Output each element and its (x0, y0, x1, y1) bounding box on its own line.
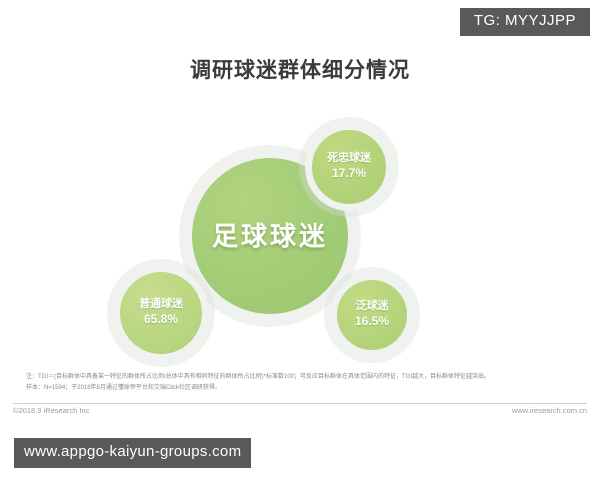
watermark-strip: www.appgo-kaiyun-groups.com (0, 432, 600, 480)
bubble-label: 泛球迷 (356, 300, 389, 314)
slide-canvas: 调研球迷群体细分情况 足球球迷 死忠球迷 17.7% 普通球迷 65.8% 泛球… (0, 0, 600, 432)
bubble-value: 16.5% (355, 314, 389, 330)
footer-bar: ©2018.9 iResearch Inc www.iresearch.com.… (13, 406, 587, 415)
bubble-value: 17.7% (332, 166, 366, 182)
bubble-value: 65.8% (144, 312, 178, 328)
footer-divider (13, 403, 587, 404)
tg-badge: TG: MYYJJPP (460, 8, 590, 36)
bubble-chart: 足球球迷 死忠球迷 17.7% 普通球迷 65.8% 泛球迷 16.5% (0, 95, 600, 370)
bubble-regular-fans[interactable]: 普通球迷 65.8% (113, 265, 209, 361)
bubble-label: 足球球迷 (212, 220, 328, 253)
bubble-hardcore-fans[interactable]: 死忠球迷 17.7% (305, 123, 393, 211)
bubble-label: 死忠球迷 (327, 152, 371, 166)
page-title: 调研球迷群体细分情况 (0, 54, 600, 84)
footnote-line-2: 样本：N=1594；于2018年8月通过懂球帝平台和艾瑞Click社区调研获得。 (26, 383, 578, 394)
footnotes: 注：TGI＝(目标群体中具备某一特征的群体所占比例/总体中具有相同特征的群体所占… (26, 372, 578, 393)
footnote-line-1: 注：TGI＝(目标群体中具备某一特征的群体所占比例/总体中具有相同特征的群体所占… (26, 372, 578, 383)
watermark-text: www.appgo-kaiyun-groups.com (14, 438, 251, 468)
copyright-text: ©2018.9 iResearch Inc (13, 406, 89, 415)
source-url[interactable]: www.iresearch.com.cn (512, 406, 587, 415)
bubble-casual-fans[interactable]: 泛球迷 16.5% (330, 273, 414, 357)
bubble-label: 普通球迷 (139, 298, 183, 312)
